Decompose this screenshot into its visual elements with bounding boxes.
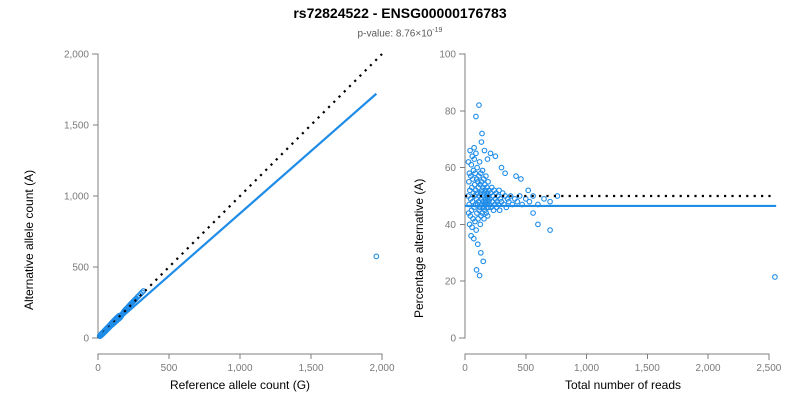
data-point	[536, 222, 541, 227]
y-tick-label: 1,500	[64, 121, 89, 132]
data-point	[472, 145, 477, 150]
x-tick-label: 500	[517, 363, 534, 374]
x-tick-label: 2,000	[369, 363, 394, 374]
y-tick-label: 2,000	[64, 50, 89, 61]
data-point	[486, 180, 491, 185]
data-point	[480, 131, 485, 136]
data-point	[471, 236, 476, 241]
y-tick-label: 0	[450, 334, 456, 345]
data-point	[526, 188, 531, 193]
x-axis-line	[465, 354, 769, 360]
data-point	[479, 251, 484, 256]
data-point	[531, 211, 536, 216]
data-point	[499, 165, 504, 170]
data-point	[548, 199, 553, 204]
right-y-axis-title: Percentage alternative (A)	[412, 179, 426, 318]
data-point	[374, 254, 379, 259]
data-point	[475, 165, 480, 170]
x-tick-label: 2,500	[756, 363, 781, 374]
data-point	[479, 140, 484, 145]
data-points-group	[466, 103, 777, 279]
data-point	[474, 268, 479, 273]
data-point	[493, 154, 498, 159]
y-axis-line	[459, 54, 465, 338]
data-points-group	[97, 254, 378, 338]
data-point	[488, 151, 493, 156]
reference-line	[98, 54, 382, 338]
data-point	[469, 233, 474, 238]
y-tick-label: 80	[445, 106, 457, 117]
panel-reads-vs-percentage: 02040608010005001,0001,5002,0002,500 Tot…	[400, 0, 800, 400]
left-plot-canvas: 05001,0001,5002,00005001,0001,5002,000	[0, 0, 400, 400]
x-tick-label: 1,000	[574, 363, 599, 374]
x-tick-label: 1,500	[298, 363, 323, 374]
data-point	[542, 197, 547, 202]
panel-reference-vs-alternative: 05001,0001,5002,00005001,0001,5002,000 R…	[0, 0, 400, 400]
data-point	[548, 228, 553, 233]
x-tick-label: 1,000	[227, 363, 252, 374]
figure-container: rs72824522 - ENSG00000176783 p-value: 8.…	[0, 0, 800, 400]
data-point	[474, 151, 479, 156]
data-point	[485, 157, 490, 162]
data-point	[481, 259, 486, 264]
data-point	[773, 275, 778, 280]
axes-group: 02040608010005001,0001,5002,0002,500	[439, 50, 781, 375]
y-tick-label: 20	[445, 277, 457, 288]
data-point	[497, 208, 502, 213]
data-point	[482, 148, 487, 153]
fit-line	[98, 94, 376, 338]
data-point	[527, 199, 532, 204]
data-point	[514, 174, 519, 179]
data-point	[503, 171, 508, 176]
data-point	[477, 160, 482, 165]
y-tick-label: 1,000	[64, 192, 89, 203]
right-plot-canvas: 02040608010005001,0001,5002,0002,500	[400, 0, 800, 400]
x-tick-label: 0	[462, 363, 468, 374]
data-point	[519, 177, 524, 182]
right-x-axis-title: Total number of reads	[493, 378, 753, 392]
data-point	[469, 162, 474, 167]
x-tick-label: 2,000	[696, 363, 721, 374]
y-tick-label: 40	[445, 220, 457, 231]
data-point	[477, 273, 482, 278]
y-tick-label: 500	[72, 263, 89, 274]
y-tick-label: 60	[445, 163, 457, 174]
data-point	[475, 242, 480, 247]
y-tick-label: 0	[83, 334, 89, 345]
x-tick-label: 1,500	[635, 363, 660, 374]
x-tick-label: 0	[95, 363, 101, 374]
data-point	[474, 228, 479, 233]
left-x-axis-title: Reference allele count (G)	[110, 378, 370, 392]
x-tick-label: 500	[161, 363, 178, 374]
y-tick-label: 100	[439, 50, 456, 61]
left-y-axis-title: Alternative allele count (A)	[22, 170, 36, 310]
data-point	[477, 103, 482, 108]
data-point	[478, 222, 483, 227]
data-point	[474, 114, 479, 119]
